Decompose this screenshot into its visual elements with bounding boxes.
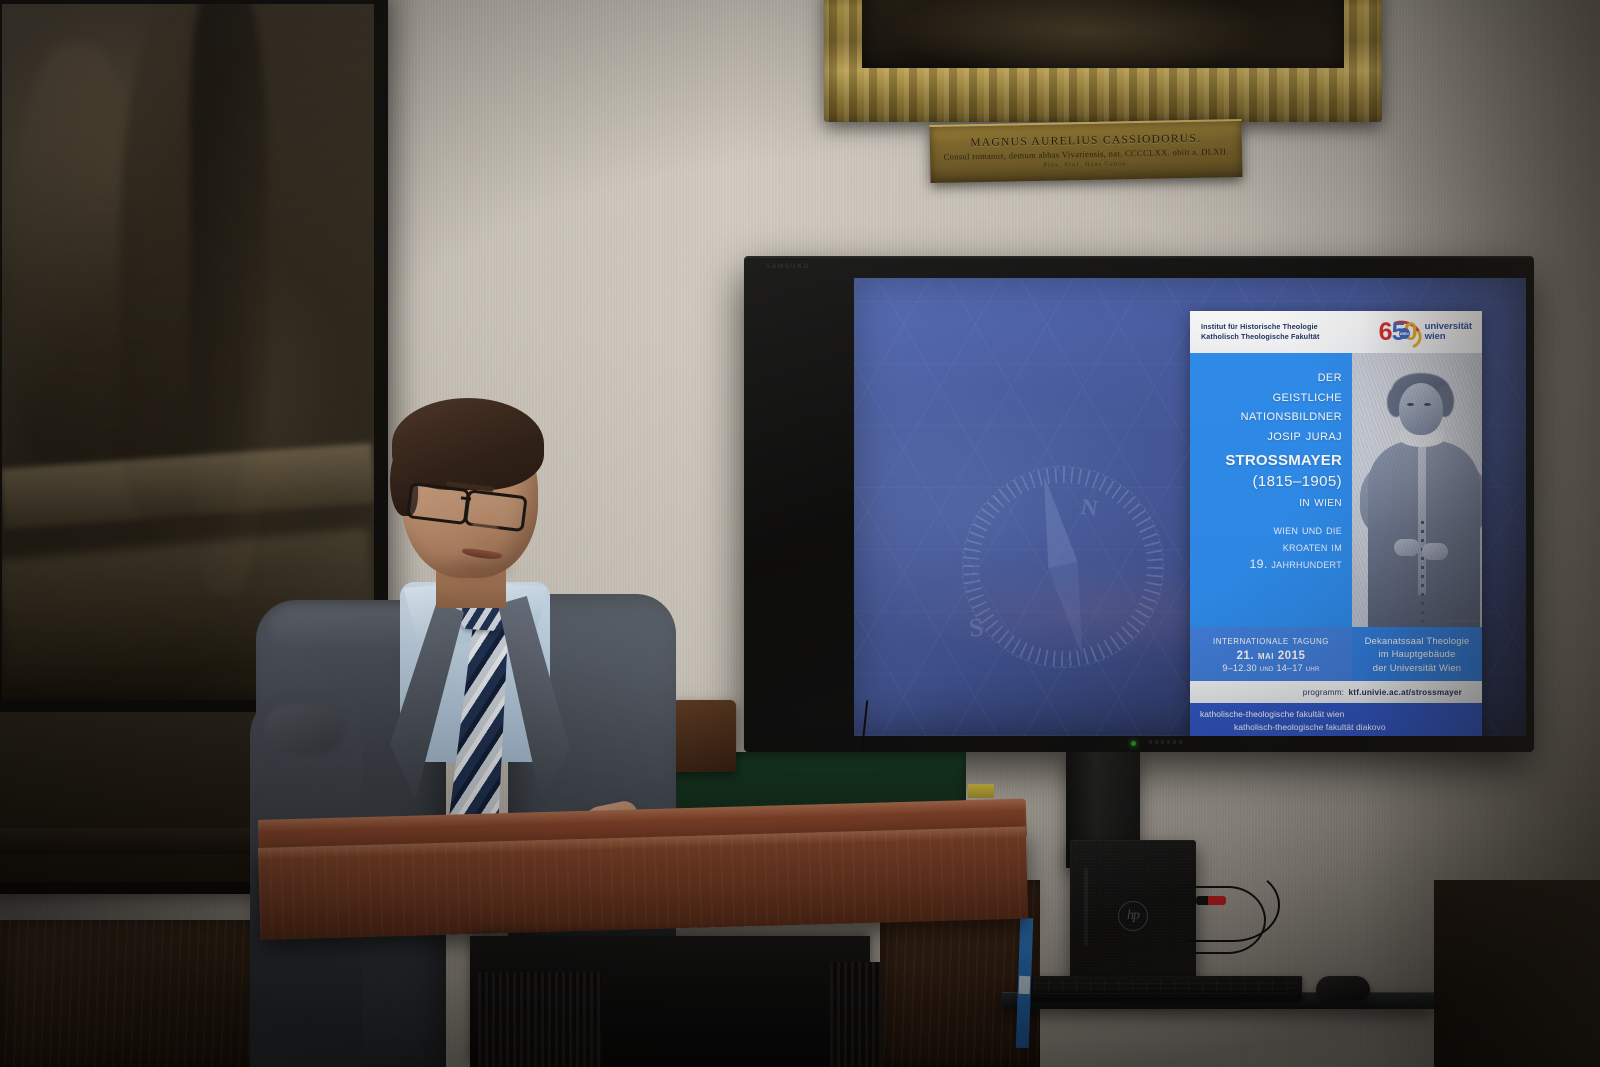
right-wall-shadow xyxy=(1360,0,1600,1067)
presentation-photo-scene: MAGNUS AURELIUS CASSIODORUS. Consul roma… xyxy=(0,0,1600,1067)
